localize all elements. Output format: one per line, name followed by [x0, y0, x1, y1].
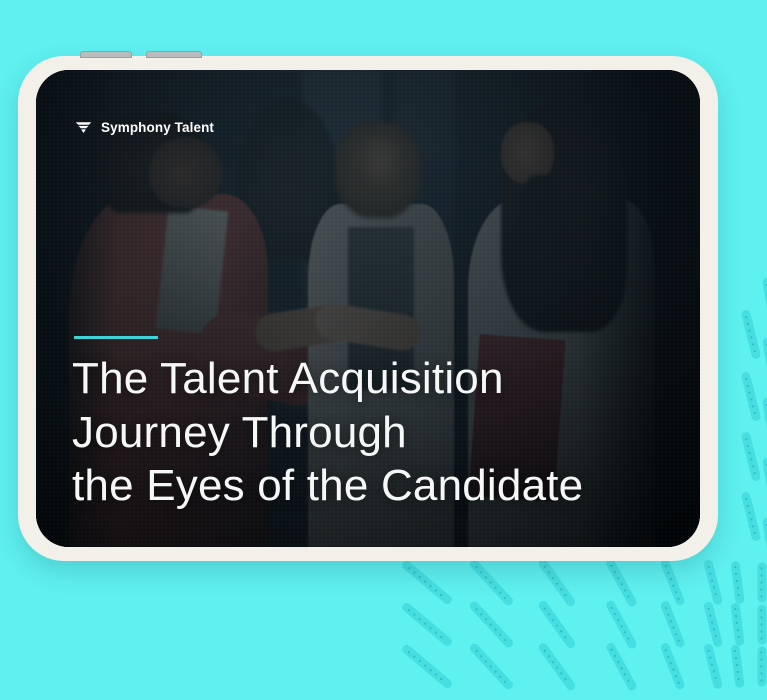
brand-name: Symphony Talent: [101, 120, 214, 135]
decoration-dash: [605, 557, 638, 607]
brand-logo[interactable]: Symphony Talent: [74, 118, 214, 137]
decoration-dash: [703, 559, 723, 606]
decoration-dash: [703, 643, 723, 690]
decoration-dash: [605, 599, 638, 649]
decoration-dash: [400, 559, 453, 606]
decoration-dash: [762, 337, 767, 392]
tablet-screen: Symphony Talent The Talent Acquisition J…: [36, 70, 700, 547]
decoration-dash: [468, 642, 515, 691]
headline-line-1: The Talent Acquisition: [72, 352, 660, 406]
decoration-dash: [741, 431, 762, 482]
decoration-dash: [468, 558, 515, 607]
decoration-dash: [741, 309, 762, 360]
decoration-dash: [758, 563, 767, 603]
volume-down-button[interactable]: [146, 51, 202, 58]
decoration-dash: [468, 600, 515, 649]
decoration-dash: [758, 605, 767, 645]
headline-line-2: Journey Through: [72, 406, 660, 460]
decoration-dash: [659, 558, 685, 607]
accent-rule: [74, 336, 158, 339]
headline-line-3: the Eyes of the Candidate: [72, 459, 660, 513]
decoration-dash: [762, 517, 767, 572]
decoration-dash: [741, 491, 762, 542]
decoration-dash: [730, 561, 744, 605]
decoration-dash: [741, 371, 762, 422]
decoration-dash: [659, 642, 685, 691]
decoration-dash: [703, 601, 723, 648]
volume-up-button[interactable]: [80, 51, 132, 58]
tablet-device: Symphony Talent The Talent Acquisition J…: [18, 56, 718, 561]
decoration-dash: [730, 645, 744, 689]
decoration-dash: [537, 641, 577, 691]
symphony-talent-chevron-logo-icon: [74, 118, 93, 137]
decoration-dash: [762, 457, 767, 512]
decoration-dash: [537, 599, 577, 649]
decoration-dash: [762, 397, 767, 452]
decoration-dash: [730, 603, 744, 647]
decoration-dash: [537, 557, 577, 607]
decoration-dash: [758, 647, 767, 687]
decoration-dash: [605, 641, 638, 691]
decoration-dash: [659, 600, 685, 649]
slide-headline: The Talent Acquisition Journey Through t…: [72, 352, 660, 513]
decoration-dash: [400, 643, 453, 690]
decoration-dash: [400, 601, 453, 648]
decoration-dash: [762, 277, 767, 332]
